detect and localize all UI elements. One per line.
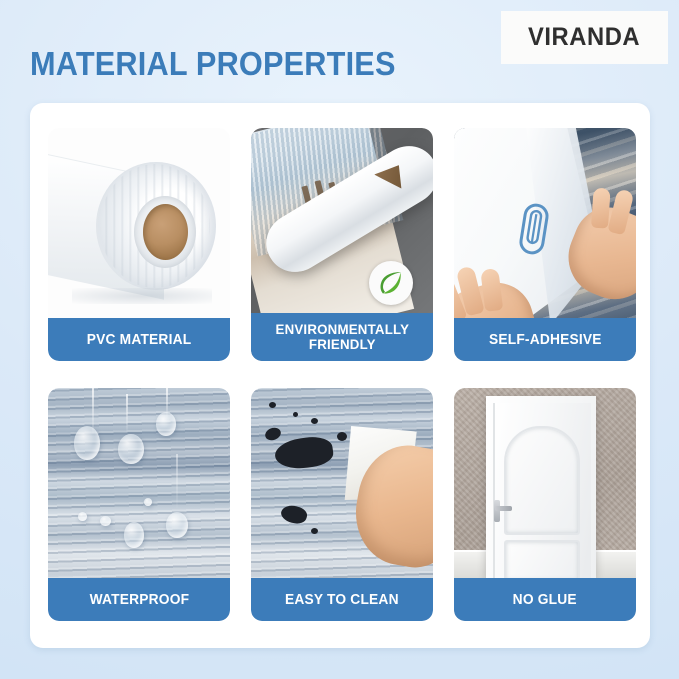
feature-cell-self-adhesive[interactable]: SELF-ADHESIVE	[454, 128, 636, 361]
feature-label-text: NO GLUE	[513, 592, 577, 608]
leaf-icon	[369, 261, 413, 305]
page-title: MATERIAL PROPERTIES	[30, 46, 396, 82]
door-panel-top	[504, 426, 580, 535]
door-handle-lever	[495, 506, 512, 511]
feature-label-text: ENVIRONMENTALLY FRIENDLY	[275, 322, 409, 352]
feature-label-no-glue: NO GLUE	[454, 578, 636, 621]
stain-mark	[311, 418, 318, 424]
feature-label-easy-to-clean: EASY TO CLEAN	[251, 578, 433, 621]
water-drop	[100, 516, 111, 526]
feature-label-waterproof: WATERPROOF	[48, 578, 230, 621]
feature-label-pvc-material: PVC MATERIAL	[48, 318, 230, 361]
stain-mark	[293, 412, 298, 417]
features-card: PVC MATERIAL	[30, 103, 650, 648]
door-handle	[494, 500, 500, 522]
stain-mark	[337, 432, 347, 441]
pvc-roll-illustration	[48, 128, 230, 318]
stain-mark	[311, 528, 318, 534]
water-drop	[144, 498, 152, 506]
water-drop	[166, 512, 188, 538]
water-drop	[74, 426, 100, 460]
water-drop	[118, 434, 144, 464]
feature-cell-no-glue[interactable]: NO GLUE	[454, 388, 636, 621]
water-drop	[78, 512, 87, 521]
brand-name: VIRANDA	[528, 23, 640, 52]
feature-label-environmentally-friendly: ENVIRONMENTALLY FRIENDLY	[251, 313, 433, 361]
door-panel-bottom	[504, 540, 580, 582]
pvc-roll-shadow	[72, 288, 212, 304]
feature-cell-waterproof[interactable]: WATERPROOF	[48, 388, 230, 621]
feature-label-text: PVC MATERIAL	[87, 332, 192, 348]
feature-label-text: SELF-ADHESIVE	[489, 332, 602, 348]
feature-label-text: WATERPROOF	[89, 592, 189, 608]
water-drop	[124, 522, 144, 548]
feature-label-text: EASY TO CLEAN	[285, 592, 399, 608]
feature-cell-environmentally-friendly[interactable]: ENVIRONMENTALLY FRIENDLY	[251, 128, 433, 361]
feature-cell-pvc-material[interactable]: PVC MATERIAL	[48, 128, 230, 361]
poster-header: MATERIAL PROPERTIES VIRANDA	[0, 0, 679, 103]
feature-label-self-adhesive: SELF-ADHESIVE	[454, 318, 636, 361]
stain-mark	[269, 402, 276, 408]
brand-logo-box: VIRANDA	[501, 11, 668, 64]
water-drop	[156, 412, 176, 436]
features-grid: PVC MATERIAL	[48, 128, 637, 628]
infographic-poster: MATERIAL PROPERTIES VIRANDA	[0, 0, 679, 679]
feature-cell-easy-to-clean[interactable]: EASY TO CLEAN	[251, 388, 433, 621]
pvc-core-inner	[143, 204, 188, 260]
